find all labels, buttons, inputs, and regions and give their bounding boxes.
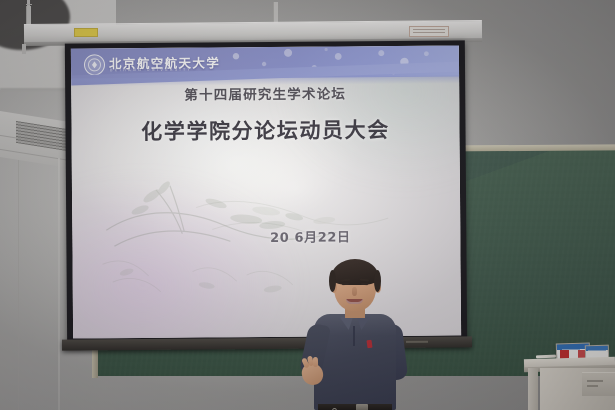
speaker-finger: [313, 357, 318, 367]
wall-conduit: [22, 44, 26, 54]
equipment-label-sticker: [409, 26, 449, 37]
slide-title: 化学学院分论坛动员大会: [71, 113, 459, 146]
speaker-mouth-smiling: [346, 299, 363, 304]
speaker-nose: [352, 287, 357, 296]
speaker-hair-side: [374, 270, 381, 292]
speaker-person: [300, 258, 412, 410]
classroom-photo-scene: 北京航空航天大学 BEIHANG UNIVERSITY 第十四届研究生学术论坛 …: [0, 0, 615, 410]
speaker-shirt-placket: [353, 326, 355, 346]
speaker-hair-side: [329, 270, 336, 292]
yellow-warning-sticker: [74, 28, 98, 37]
speaker-hair: [331, 259, 379, 285]
university-seal-icon: [84, 54, 105, 75]
desk-leg: [528, 368, 538, 410]
desk-drawer-panel: [582, 372, 615, 396]
speaker-shirt-logo: [366, 340, 372, 349]
wall-pillar-edge: [58, 158, 60, 410]
wall-corner-edge: [18, 160, 19, 410]
slide-subtitle: 第十四届研究生学术论坛: [71, 81, 459, 104]
screen-bracket-arm: [26, 4, 32, 5]
screen-mount-bracket: [273, 2, 278, 24]
slide-date: 20 6月22日: [72, 225, 460, 247]
